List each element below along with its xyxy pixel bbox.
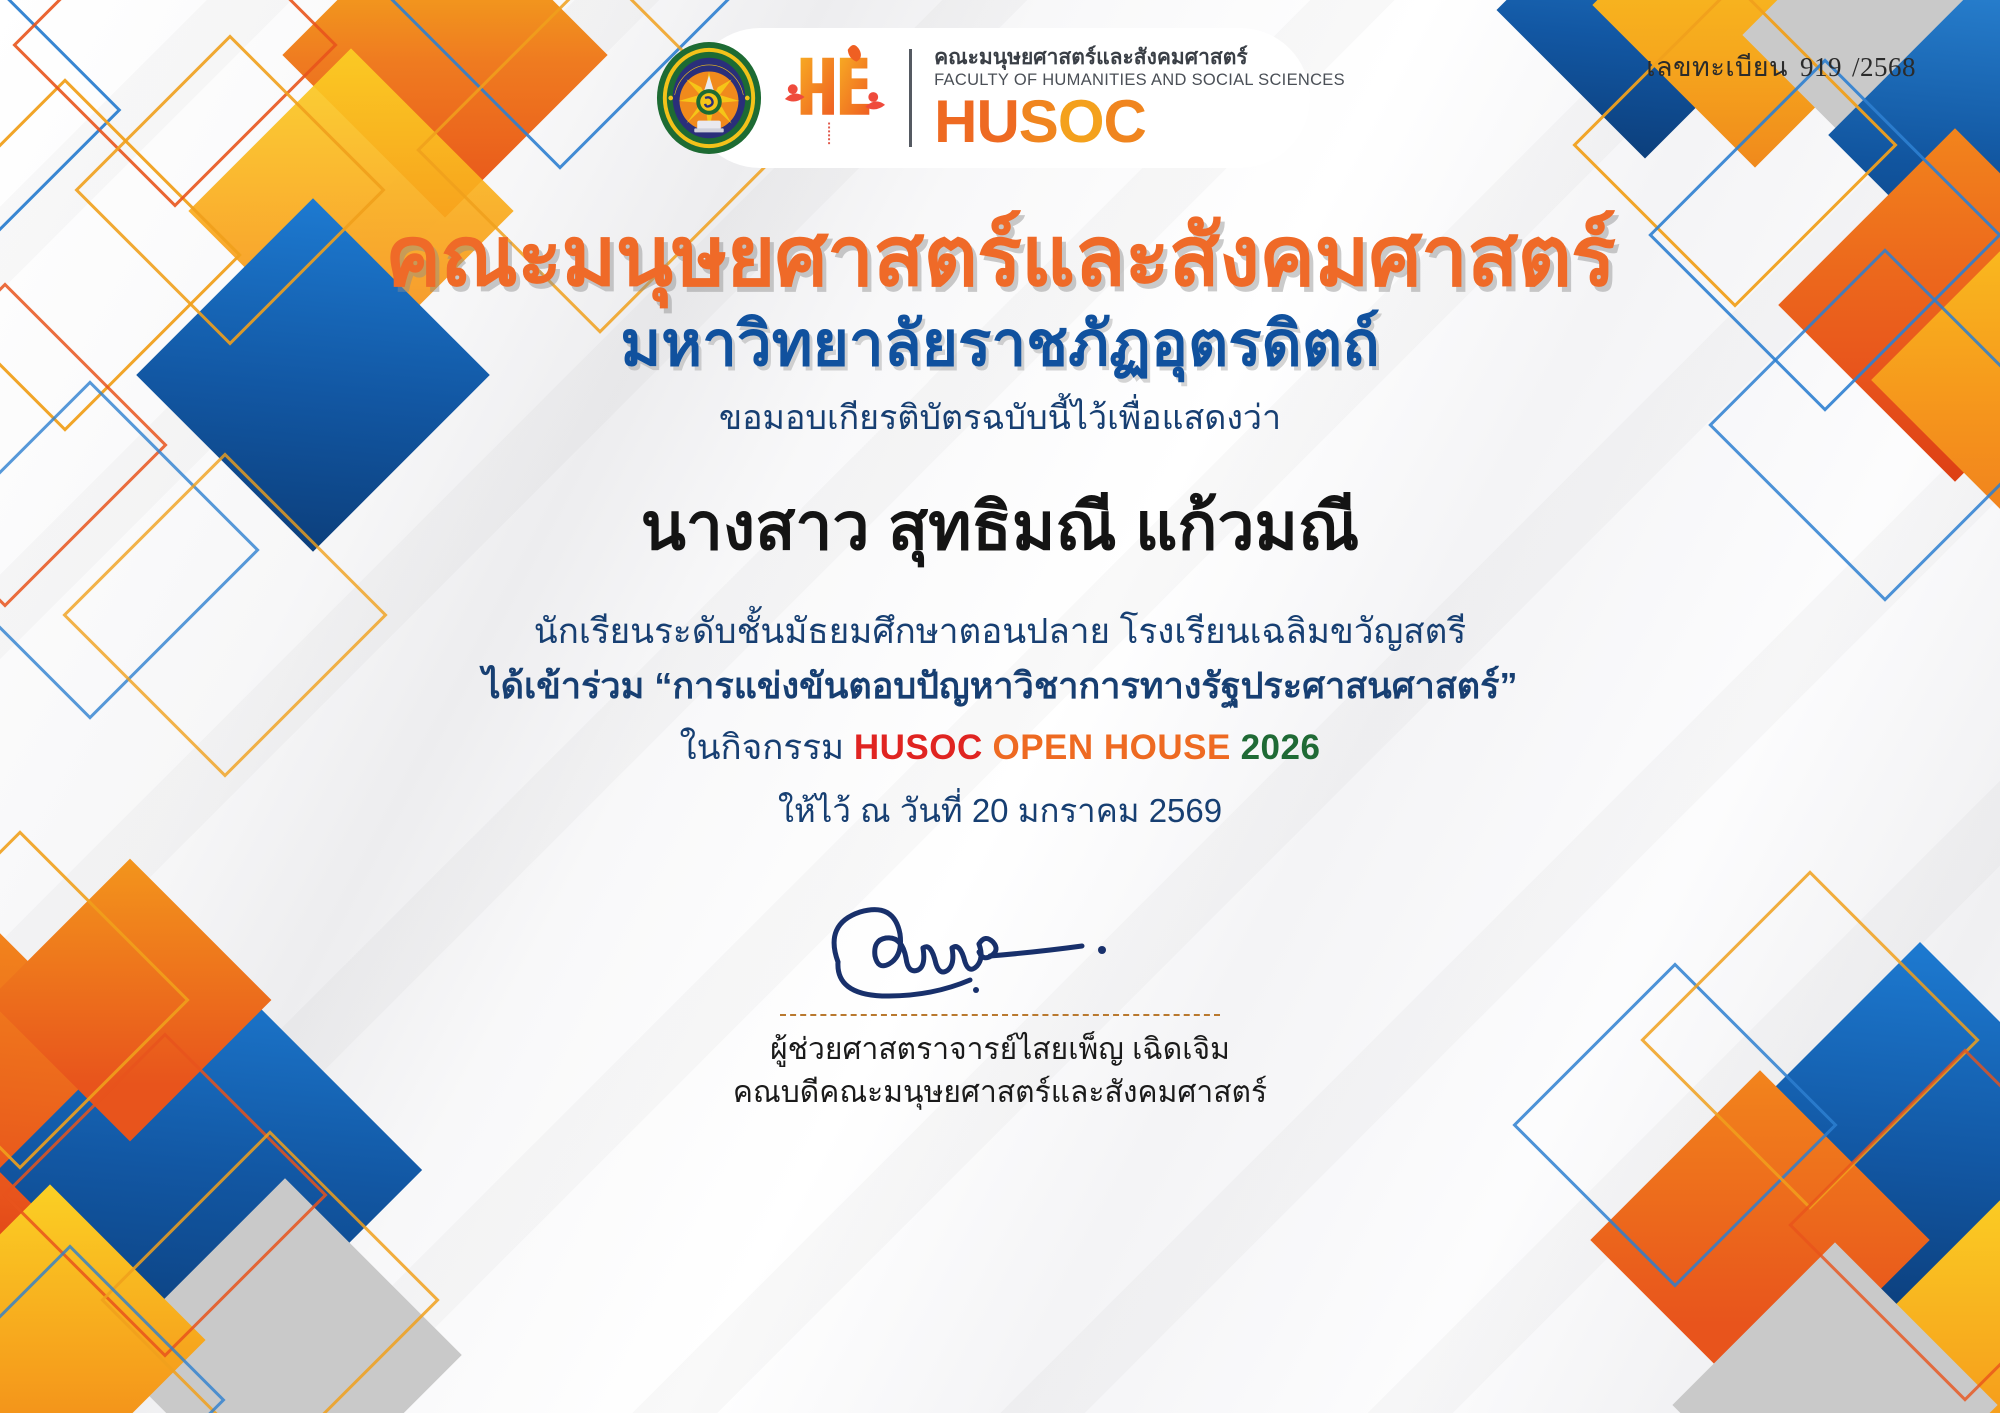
issue-date-line: ให้ไว้ ณ วันที่ 20 มกราคม 2569 [0,790,2000,831]
university-seal-icon [655,40,763,156]
signature-rule [780,1014,1220,1016]
award-statement: ขอมอบเกียรติบัตรฉบับนี้ไว้เพื่อแสดงว่า [0,398,2000,439]
activity-title-line: ได้เข้าร่วม “การแข่งขันตอบปัญหาวิชาการทา… [0,663,2000,708]
husoc-wordmark: HUSOC [934,93,1345,150]
event-line: ในกิจกรรม HUSOC OPEN HOUSE 2026 [0,725,2000,771]
event-year-label: 2026 [1241,728,1321,767]
event-husoc-label: HUSOC [854,728,983,767]
husoc-logo-badge: คณะมนุษยศาสตร์และสังคมศาสตร์ FACULTY OF … [690,28,1310,168]
event-openhouse-label: OPEN HOUSE [992,728,1230,767]
page-title-university: มหาวิทยาลัยราชภัฏอุตรดิตถ์ [0,312,2000,377]
logo-text-block: คณะมนุษยศาสตร์และสังคมศาสตร์ FACULTY OF … [934,46,1345,150]
recipient-school-line: นักเรียนระดับชั้นมัธยมศึกษาตอนปลาย โรงเร… [0,610,2000,654]
logo-divider [909,49,912,147]
signature-block: ผู้ช่วยศาสตราจารย์ไสยเพ็ญ เฉิดเจิม คณบดี… [690,890,1310,1112]
certificate-canvas: คณะมนุษยศาสตร์และสังคมศาสตร์ FACULTY OF … [0,0,2000,1413]
registration-value: 919 [1800,52,1842,82]
handwritten-signature-icon [790,890,1210,1010]
event-prefix: ในกิจกรรม [680,728,845,767]
signatory-role: คณบดีคณะมนุษยศาสตร์และสังคมศาสตร์ [690,1073,1310,1112]
faculty-name-thai: คณะมนุษยศาสตร์และสังคมศาสตร์ [934,46,1345,70]
registration-year: /2568 [1852,52,1916,82]
certificate-body: คณะมนุษยศาสตร์และสังคมศาสตร์ มหาวิทยาลัย… [0,0,2000,1413]
recipient-name: นางสาว สุทธิมณี แก้วมณี [0,487,2000,566]
registration-number: เลขทะเบียน919/2568 [1646,45,1916,88]
registration-label: เลขทะเบียน [1646,52,1788,82]
husoc-thai-monogram-icon [779,40,887,156]
page-title-faculty: คณะมนุษยศาสตร์และสังคมศาสตร์ [0,212,2000,300]
signatory-name: ผู้ช่วยศาสตราจารย์ไสยเพ็ญ เฉิดเจิม [690,1030,1310,1069]
